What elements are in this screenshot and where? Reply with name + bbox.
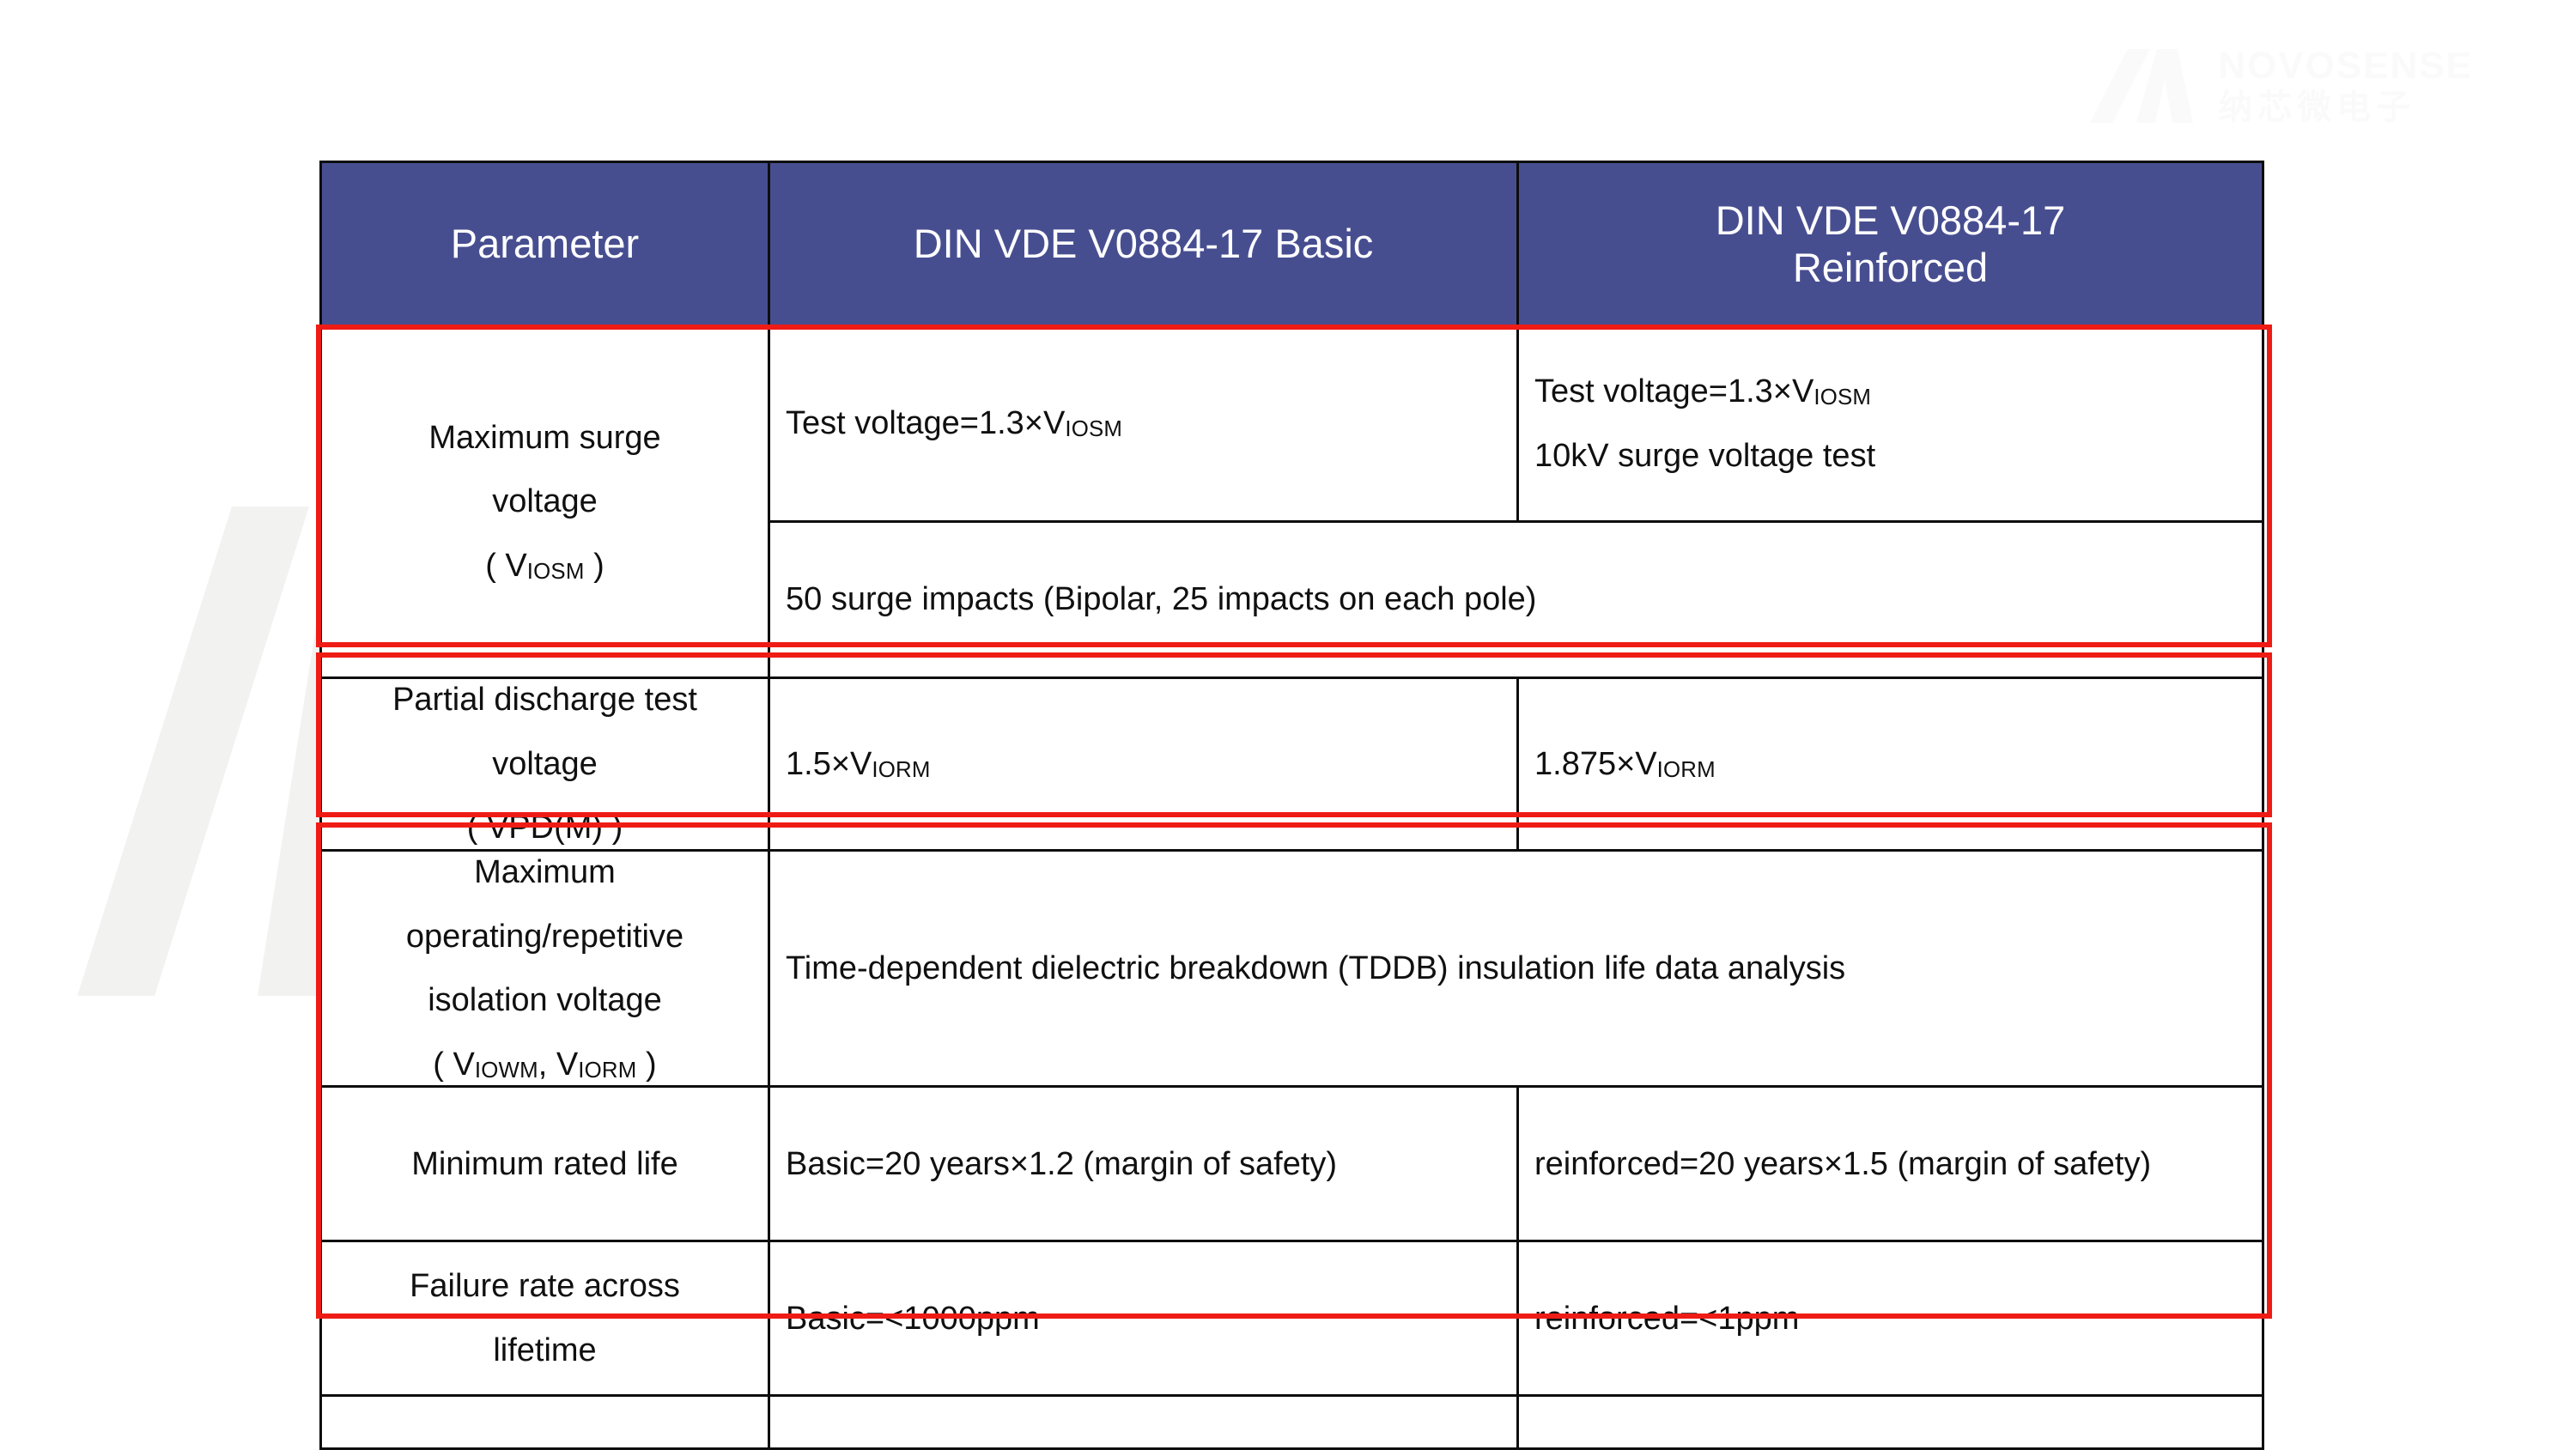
cell-param-maximum-surge-voltage: Maximum surge voltage ( VIOSM ) [321,326,769,678]
header-parameter: Parameter [321,162,769,326]
reinforced-surge-line1-sub: IOSM [1814,385,1871,410]
param-iso-line4: ( VIOWM, VIORM ) [337,1044,752,1086]
cell-tddb-analysis: Time-dependent dielectric breakdown (TDD… [769,850,2263,1087]
basic-surge-value-sub: IOSM [1065,417,1122,441]
reinforced-surge-line1-pre: Test voltage=1.3×V [1534,373,1814,410]
brand-wordmark: NOVOSENSE 纳芯微电子 [2218,47,2473,124]
header-basic: DIN VDE V0884-17 Basic [769,162,1518,326]
reinforced-pd-value: 1.875×VIORM [1534,746,1716,782]
table-row [321,1396,2263,1449]
param-pd-line2: voltage [337,743,752,786]
param-surge-subscript: IOSM [527,560,585,584]
param-surge-line3-post: ) [585,548,605,584]
table-header-row: Parameter DIN VDE V0884-17 Basic DIN VDE… [321,162,2263,326]
basic-pd-value-sub: IORM [872,758,930,782]
header-reinforced-line1: DIN VDE V0884-17 [1716,197,2066,243]
param-surge-line3: ( VIOSM ) [337,545,752,587]
param-iso-line4-sub2: IORM [578,1059,636,1083]
cell-empty-reinforced [1518,1396,2263,1449]
basic-surge-value-pre: Test voltage=1.3×V [786,405,1065,441]
reinforced-surge-line1: Test voltage=1.3×VIOSM [1534,371,2246,413]
cell-surge-impacts-note: 50 surge impacts (Bipolar, 25 impacts on… [769,522,2263,678]
cell-basic-failure-rate: Basic=<1000ppm [769,1241,1518,1396]
cell-basic-partial-discharge: 1.5×VIORM [769,678,1518,851]
table-row: Maximum operating/repetitive isolation v… [321,850,2263,1087]
cell-param-minimum-rated-life: Minimum rated life [321,1087,769,1241]
cell-basic-surge-test-voltage: Test voltage=1.3×VIOSM [769,326,1518,522]
param-surge-line1: Maximum surge [337,417,752,459]
param-pd-line1: Partial discharge test [337,679,752,721]
cell-param-failure-rate: Failure rate across lifetime [321,1241,769,1396]
table-row: Minimum rated life Basic=20 years×1.2 (m… [321,1087,2263,1241]
cell-reinforced-partial-discharge: 1.875×VIORM [1518,678,2263,851]
param-pd-line3: ( VPD(M) ) [337,807,752,849]
cell-reinforced-minimum-rated-life: reinforced=20 years×1.5 (margin of safet… [1518,1087,2263,1241]
table-row: Maximum surge voltage ( VIOSM ) Test vol… [321,326,2263,522]
cell-basic-minimum-rated-life: Basic=20 years×1.2 (margin of safety) [769,1087,1518,1241]
cell-param-isolation-voltage: Maximum operating/repetitive isolation v… [321,850,769,1087]
cell-reinforced-surge-test-voltage: Test voltage=1.3×VIOSM 10kV surge voltag… [1518,326,2263,522]
param-iso-line1: Maximum [337,852,752,894]
basic-pd-value: 1.5×VIORM [786,746,931,782]
reinforced-surge-line2: 10kV surge voltage test [1534,435,2246,477]
isolation-spec-table: Parameter DIN VDE V0884-17 Basic DIN VDE… [319,161,2264,1450]
basic-surge-value: Test voltage=1.3×VIOSM [786,405,1122,441]
param-iso-line3: isolation voltage [337,980,752,1022]
cell-param-partial-discharge: Partial discharge test voltage ( VPD(M) … [321,678,769,851]
param-iso-line4-sub1: IOWM [475,1059,538,1083]
table-row: Partial discharge test voltage ( VPD(M) … [321,678,2263,851]
param-failure-line1: Failure rate across [337,1265,752,1307]
header-reinforced: DIN VDE V0884-17 Reinforced [1518,162,2263,326]
novosense-n-mark-icon [2083,47,2199,124]
reinforced-pd-value-pre: 1.875×V [1534,746,1657,782]
param-iso-line4-mid: , V [538,1047,578,1083]
param-failure-line2: lifetime [337,1330,752,1372]
cell-empty-basic [769,1396,1518,1449]
brand-logo: NOVOSENSE 纳芯微电子 [2083,47,2473,124]
reinforced-pd-value-sub: IORM [1657,758,1716,782]
cell-empty-param [321,1396,769,1449]
brand-name-en: NOVOSENSE [2218,47,2473,85]
param-surge-line3-pre: ( V [485,548,527,584]
param-iso-line2: operating/repetitive [337,916,752,958]
param-iso-line4-post: ) [637,1047,657,1083]
cell-reinforced-failure-rate: reinforced=<1ppm [1518,1241,2263,1396]
header-reinforced-line2: Reinforced [1793,245,1988,290]
param-surge-line2: voltage [337,481,752,523]
param-iso-line4-pre: ( V [433,1047,475,1083]
spec-table-container: Parameter DIN VDE V0884-17 Basic DIN VDE… [319,161,2262,1450]
brand-name-cn: 纳芯微电子 [2218,90,2473,124]
table-row: Failure rate across lifetime Basic=<1000… [321,1241,2263,1396]
basic-pd-value-pre: 1.5×V [786,746,872,782]
